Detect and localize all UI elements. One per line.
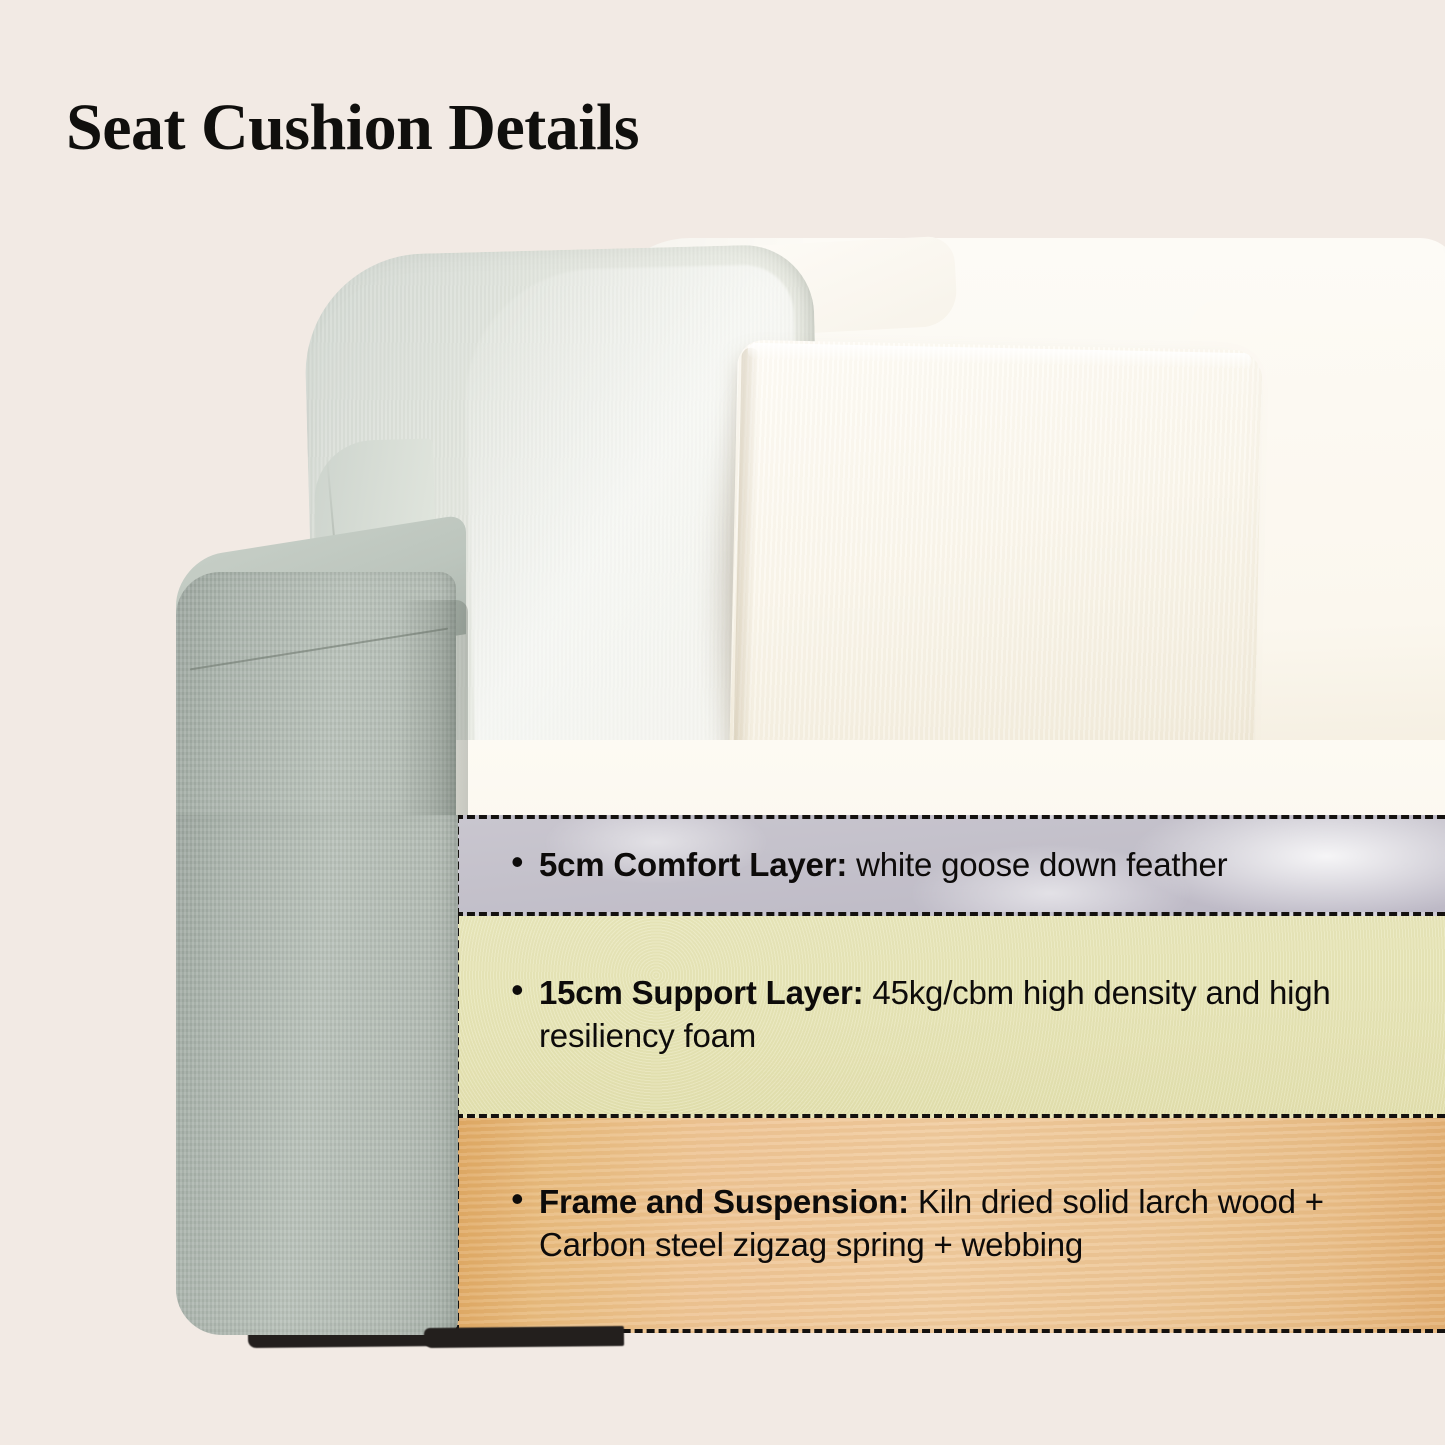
cushion-layer-callouts: • 5cm Comfort Layer: white goose down fe… (455, 815, 1445, 1333)
bullet-icon: • (511, 844, 523, 880)
callout-comfort-layer-text: • 5cm Comfort Layer: white goose down fe… (459, 844, 1251, 887)
callout-comfort-layer: • 5cm Comfort Layer: white goose down fe… (455, 815, 1445, 916)
bullet-icon: • (511, 972, 523, 1008)
callout-frame-layer-text: • Frame and Suspension: Kiln dried solid… (459, 1181, 1445, 1267)
bullet-icon: • (511, 1181, 523, 1217)
sofa-leg (248, 1326, 448, 1348)
callout-support-layer-label: 15cm Support Layer: (539, 974, 863, 1011)
infographic-canvas: Seat Cushion Details • 5cm Comfort Layer… (0, 0, 1445, 1445)
callout-support-layer: • 15cm Support Layer: 45kg/cbm high dens… (455, 916, 1445, 1118)
callout-support-layer-text: • 15cm Support Layer: 45kg/cbm high dens… (459, 972, 1445, 1058)
callout-comfort-layer-label: 5cm Comfort Layer: (539, 846, 847, 883)
callout-frame-layer: • Frame and Suspension: Kiln dried solid… (455, 1118, 1445, 1333)
callout-comfort-layer-value: white goose down feather (847, 846, 1227, 883)
callout-frame-layer-label: Frame and Suspension: (539, 1183, 909, 1220)
